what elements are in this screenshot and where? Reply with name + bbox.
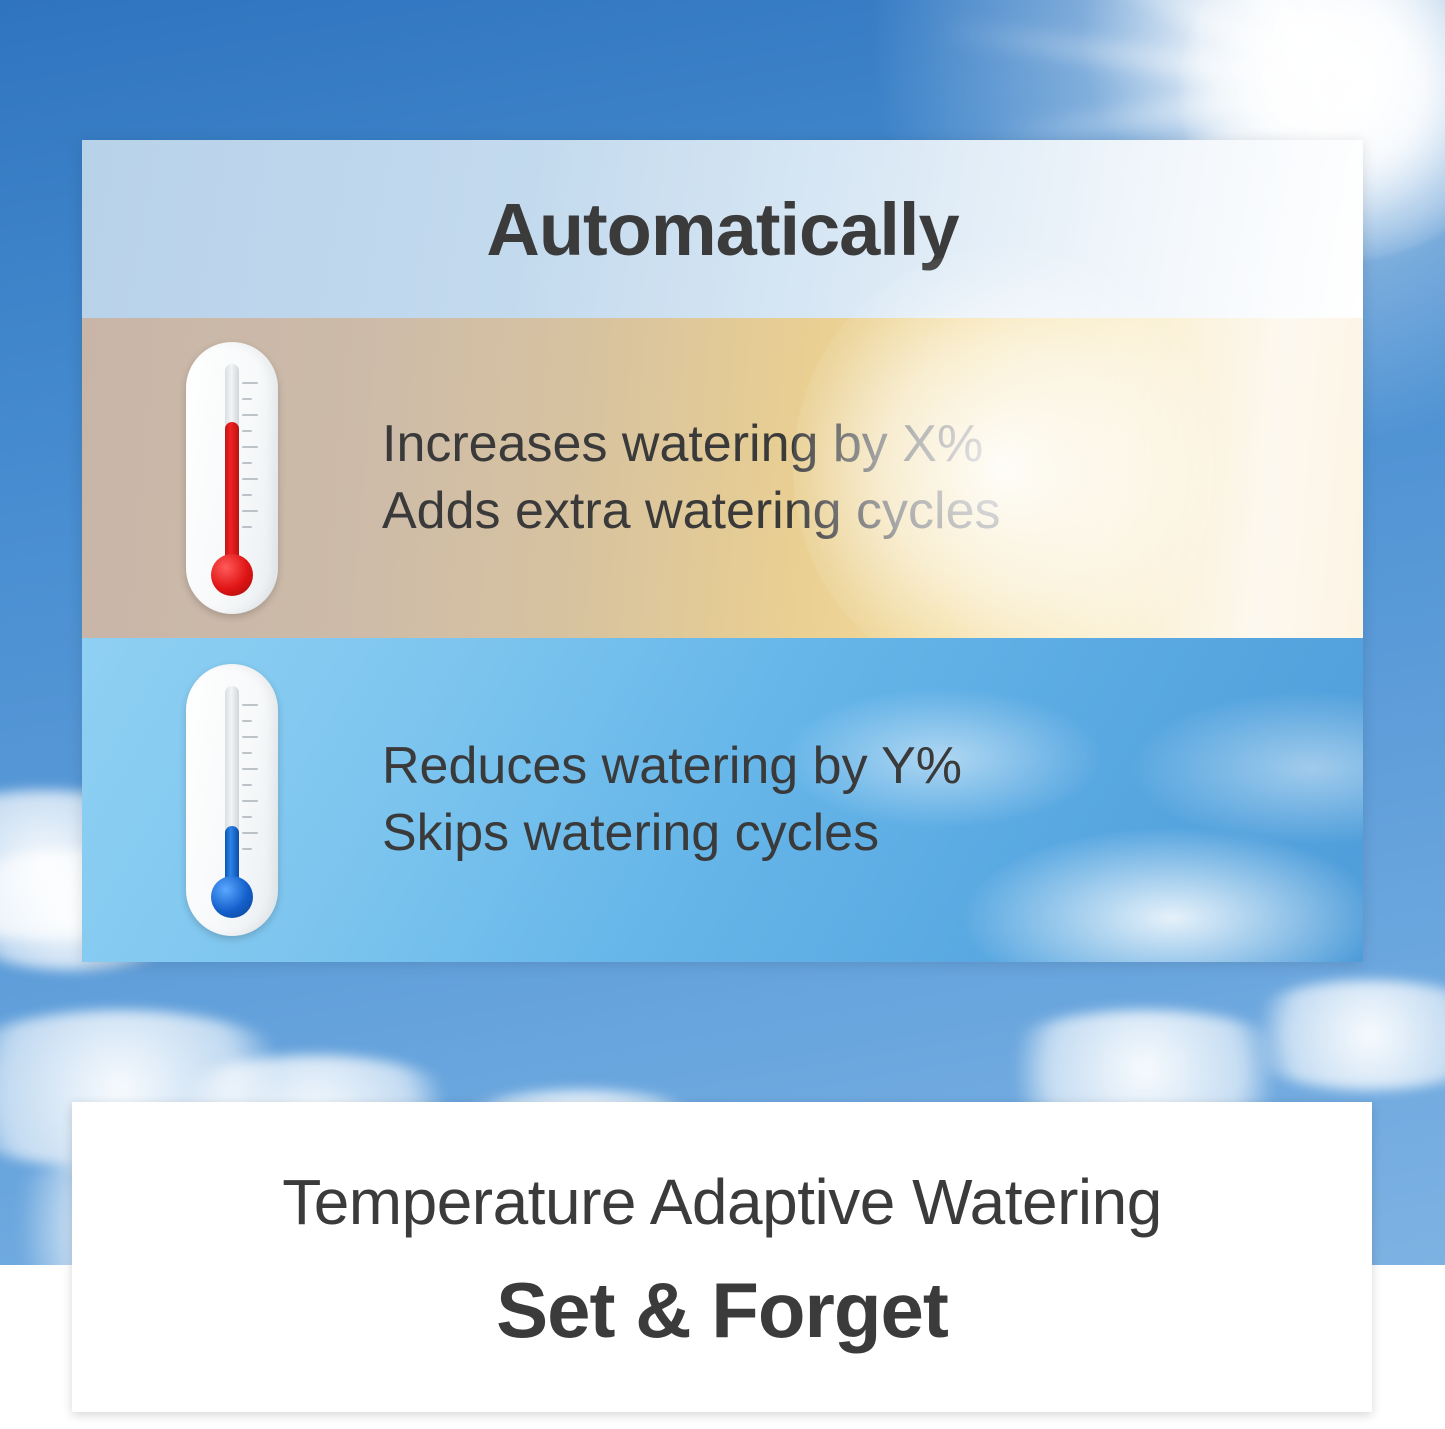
card-header: Automatically [82, 140, 1363, 318]
hot-thermometer-wrap [82, 342, 382, 614]
hot-weather-row: Increases watering by X% Adds extra wate… [82, 318, 1363, 638]
feature-card: Automatically Increases watering by X% A… [82, 140, 1363, 962]
thermometer-cold-icon [186, 664, 278, 936]
poster-root: Automatically Increases watering by X% A… [0, 0, 1445, 1429]
footer-subtitle: Temperature Adaptive Watering [282, 1165, 1162, 1239]
cold-weather-row: Reduces watering by Y% Skips watering cy… [82, 638, 1363, 962]
cold-weather-text: Reduces watering by Y% Skips watering cy… [382, 733, 1363, 866]
thermometer-scale-ticks [242, 704, 264, 874]
hot-line-2: Adds extra watering cycles [382, 478, 1323, 545]
footer-headline: Set & Forget [496, 1265, 948, 1356]
footer-card: Temperature Adaptive Watering Set & Forg… [72, 1102, 1372, 1412]
thermometer-bulb-hot [211, 554, 253, 596]
thermometer-scale-ticks [242, 382, 264, 552]
cold-line-2: Skips watering cycles [382, 800, 1323, 867]
thermometer-bulb-cold [211, 876, 253, 918]
page-title: Automatically [486, 187, 958, 272]
thermometer-mercury-hot [225, 422, 239, 572]
thermometer-hot-icon [186, 342, 278, 614]
cold-line-1: Reduces watering by Y% [382, 733, 1323, 800]
cold-thermometer-wrap [82, 664, 382, 936]
hot-line-1: Increases watering by X% [382, 411, 1323, 478]
hot-weather-text: Increases watering by X% Adds extra wate… [382, 411, 1363, 544]
